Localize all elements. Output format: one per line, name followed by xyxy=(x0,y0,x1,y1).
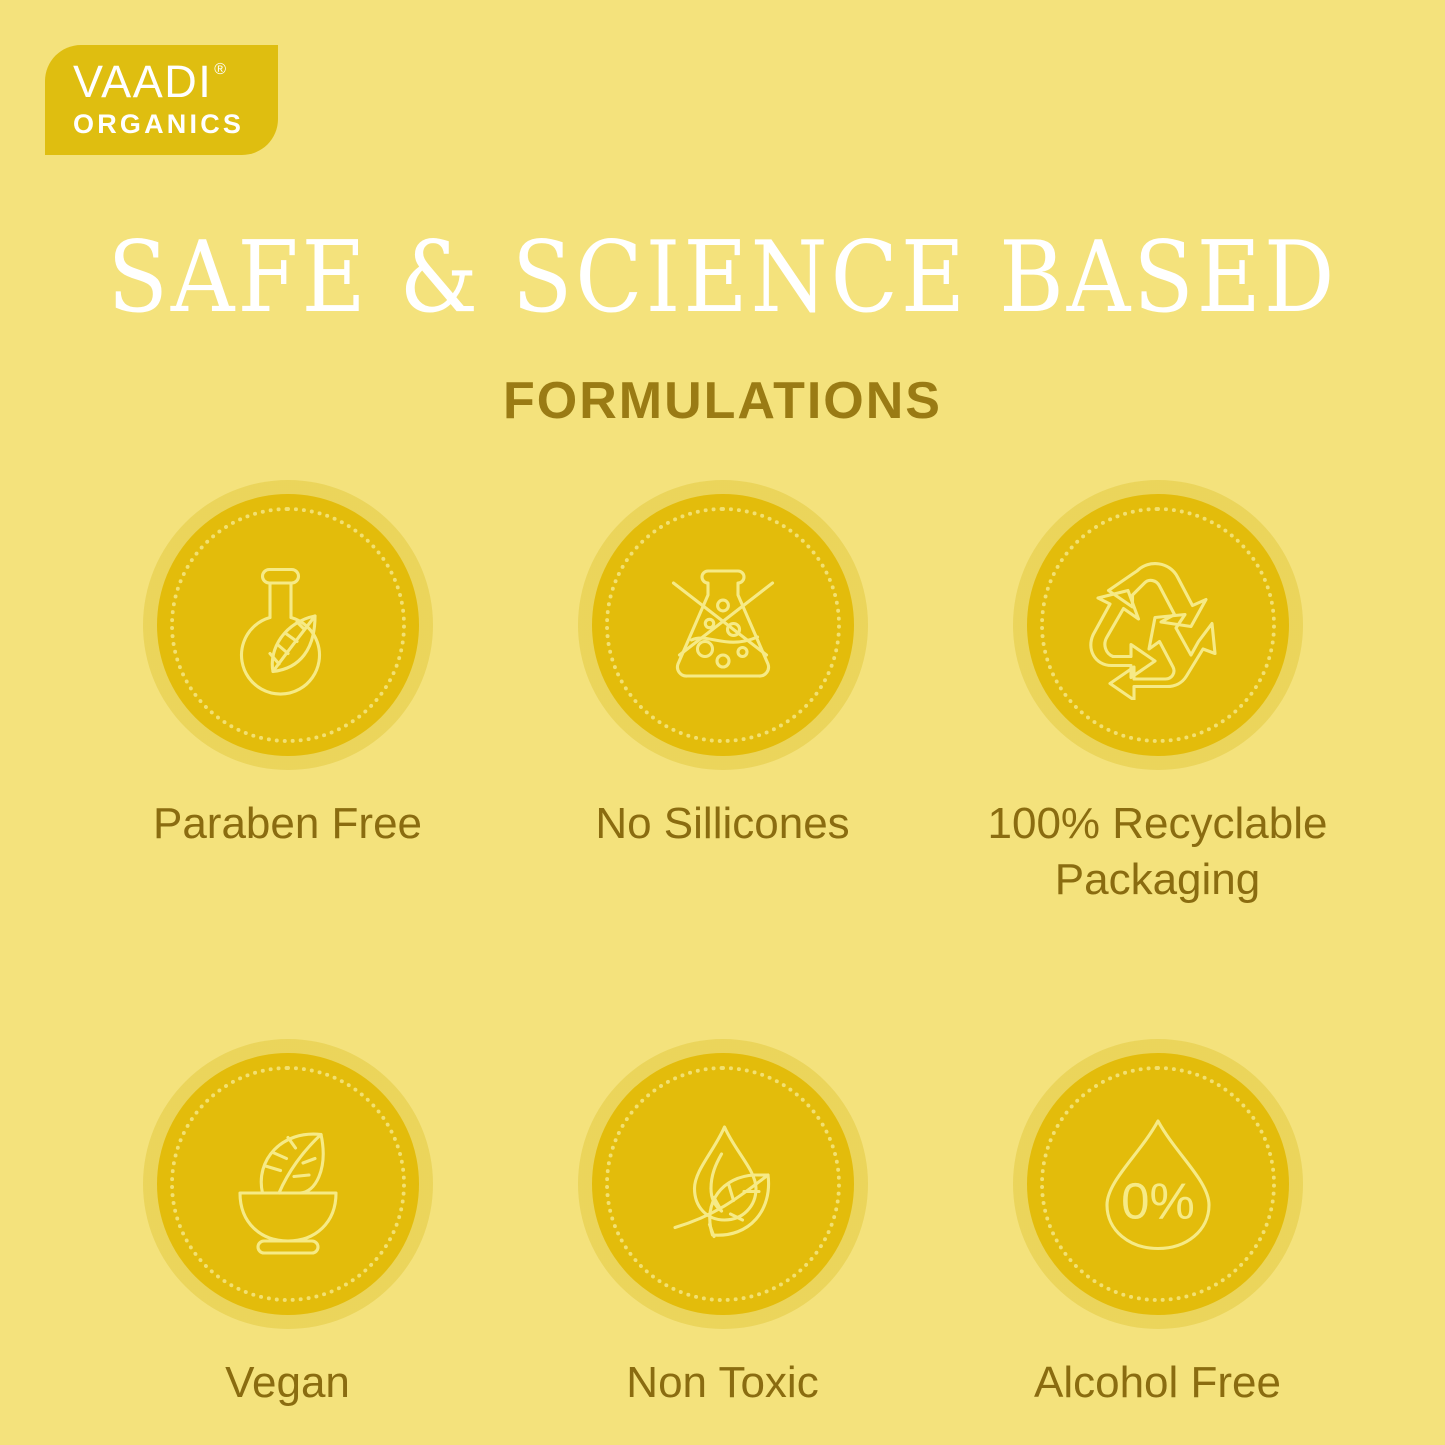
badge-coin xyxy=(1027,494,1289,756)
badge-label: Alcohol Free xyxy=(1034,1355,1281,1411)
feature-badge-vegan: Vegan xyxy=(70,1039,505,1411)
crossed-out-flask-icon xyxy=(648,550,798,700)
brand-logo-subtitle: ORGANICS xyxy=(73,109,244,140)
page-title: SAFE & SCIENCE BASED xyxy=(0,228,1445,327)
badge-halo xyxy=(578,1039,868,1329)
badge-coin xyxy=(157,494,419,756)
badge-coin xyxy=(157,1053,419,1315)
badge-halo xyxy=(143,480,433,770)
badge-label: Non Toxic xyxy=(626,1355,818,1411)
badge-label: Paraben Free xyxy=(153,796,422,852)
droplet-zero-percent-icon: 0% xyxy=(1083,1109,1233,1259)
page-subtitle: FORMULATIONS xyxy=(0,375,1445,427)
feature-badge-non-toxic: Non Toxic xyxy=(505,1039,940,1411)
badge-halo xyxy=(143,1039,433,1329)
flask-leaf-icon xyxy=(213,550,363,700)
recycle-icon xyxy=(1083,550,1233,700)
feature-badge-paraben-free: Paraben Free xyxy=(70,480,505,909)
badge-halo xyxy=(1013,480,1303,770)
droplet-leaf-icon xyxy=(648,1109,798,1259)
badge-coin xyxy=(592,494,854,756)
brand-logo-wordmark: VAADI® xyxy=(73,60,228,104)
brand-logo-name: VAADI xyxy=(73,60,212,104)
brand-logo: VAADI® ORGANICS xyxy=(45,45,278,155)
droplet-value-text: 0% xyxy=(1121,1172,1195,1229)
badge-halo: 0% xyxy=(1013,1039,1303,1329)
badge-label: Vegan xyxy=(225,1355,350,1411)
badge-coin xyxy=(592,1053,854,1315)
feature-badge-no-sillicones: No Sillicones xyxy=(505,480,940,909)
badge-label: 100% Recyclable Packaging xyxy=(958,796,1358,909)
badge-coin: 0% xyxy=(1027,1053,1289,1315)
feature-badge-recyclable-packaging: 100% Recyclable Packaging xyxy=(940,480,1375,909)
feature-badge-grid: Paraben Free No Sillicone xyxy=(70,480,1375,1411)
badge-label: No Sillicones xyxy=(595,796,849,852)
bowl-leaf-icon xyxy=(213,1109,363,1259)
badge-halo xyxy=(578,480,868,770)
registered-trademark-icon: ® xyxy=(214,62,227,78)
feature-badge-alcohol-free: 0% Alcohol Free xyxy=(940,1039,1375,1411)
